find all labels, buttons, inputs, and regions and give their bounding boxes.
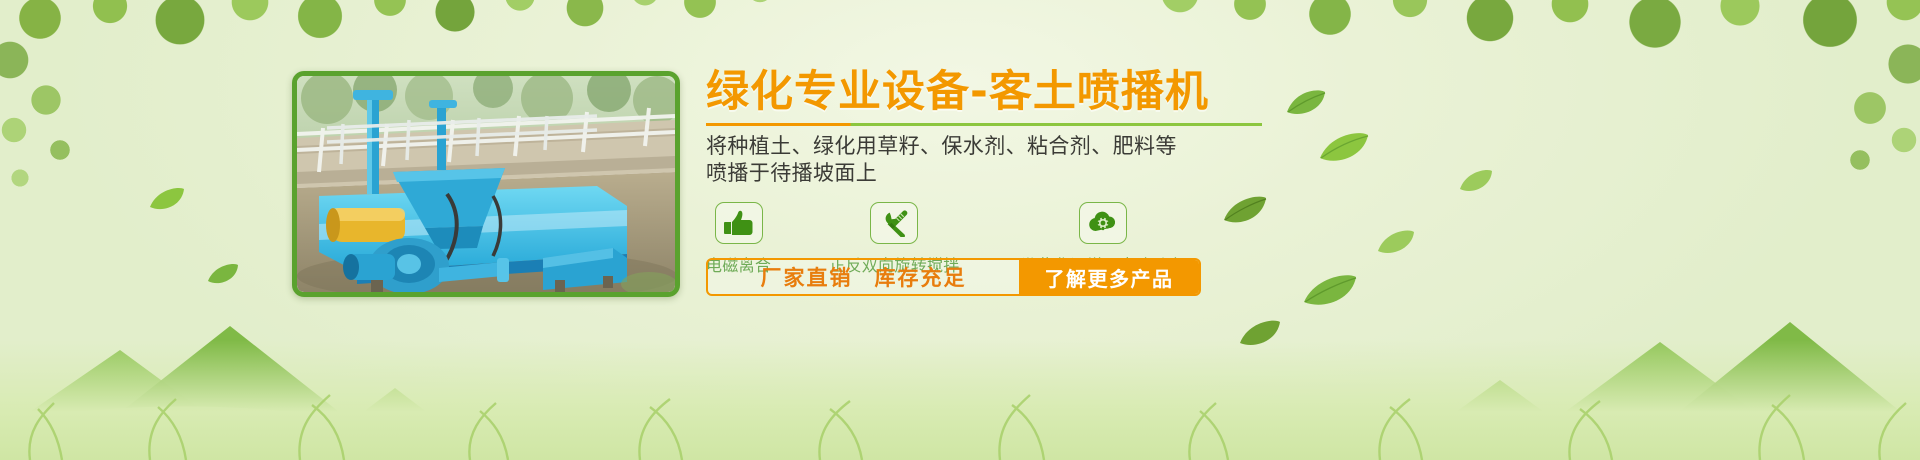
floating-leaf-icon bbox=[1458, 168, 1494, 194]
floating-leaf-icon bbox=[206, 262, 240, 286]
grass-blades-decoration bbox=[0, 345, 1920, 460]
cta-tags: 厂家直销 库存充足 bbox=[708, 260, 1019, 294]
wrench-screwdriver-icon bbox=[870, 202, 918, 244]
right-foliage-decoration bbox=[1620, 0, 1920, 320]
page-title: 绿化专业设备-客土喷播机 bbox=[706, 70, 1266, 116]
thumbs-up-icon bbox=[715, 202, 763, 244]
title-divider bbox=[706, 123, 1262, 126]
floating-leaf-icon bbox=[1238, 318, 1282, 348]
banner-subtitle: 将种植土、绿化用草籽、保水剂、粘合剂、肥料等 喷播于待播坡面上 bbox=[706, 133, 1266, 188]
hero-banner: 绿化专业设备-客土喷播机 将种植土、绿化用草籽、保水剂、粘合剂、肥料等 喷播于待… bbox=[0, 0, 1920, 460]
floating-leaf-icon bbox=[1318, 130, 1370, 164]
subtitle-line-2: 喷播于待播坡面上 bbox=[706, 160, 1266, 188]
floating-leaf-icon bbox=[1285, 88, 1327, 118]
left-foliage-decoration bbox=[0, 0, 300, 300]
floating-leaf-icon bbox=[148, 186, 186, 212]
floating-leaf-icon bbox=[1376, 228, 1416, 256]
engine-gear-icon bbox=[1079, 202, 1127, 244]
product-photo bbox=[292, 71, 680, 297]
banner-text-content: 绿化专业设备-客土喷播机 将种植土、绿化用草籽、保水剂、粘合剂、肥料等 喷播于待… bbox=[706, 70, 1266, 276]
cta-tag-in-stock: 库存充足 bbox=[875, 262, 967, 292]
grass-decoration bbox=[0, 340, 1920, 460]
learn-more-button[interactable]: 了解更多产品 bbox=[1019, 260, 1199, 294]
product-photo-image bbox=[297, 76, 675, 292]
subtitle-line-1: 将种植土、绿化用草籽、保水剂、粘合剂、肥料等 bbox=[706, 133, 1266, 161]
cta-tag-direct-sales: 厂家直销 bbox=[761, 262, 853, 292]
floating-leaf-icon bbox=[1302, 272, 1358, 308]
cta-bar: 厂家直销 库存充足 了解更多产品 bbox=[706, 258, 1201, 296]
